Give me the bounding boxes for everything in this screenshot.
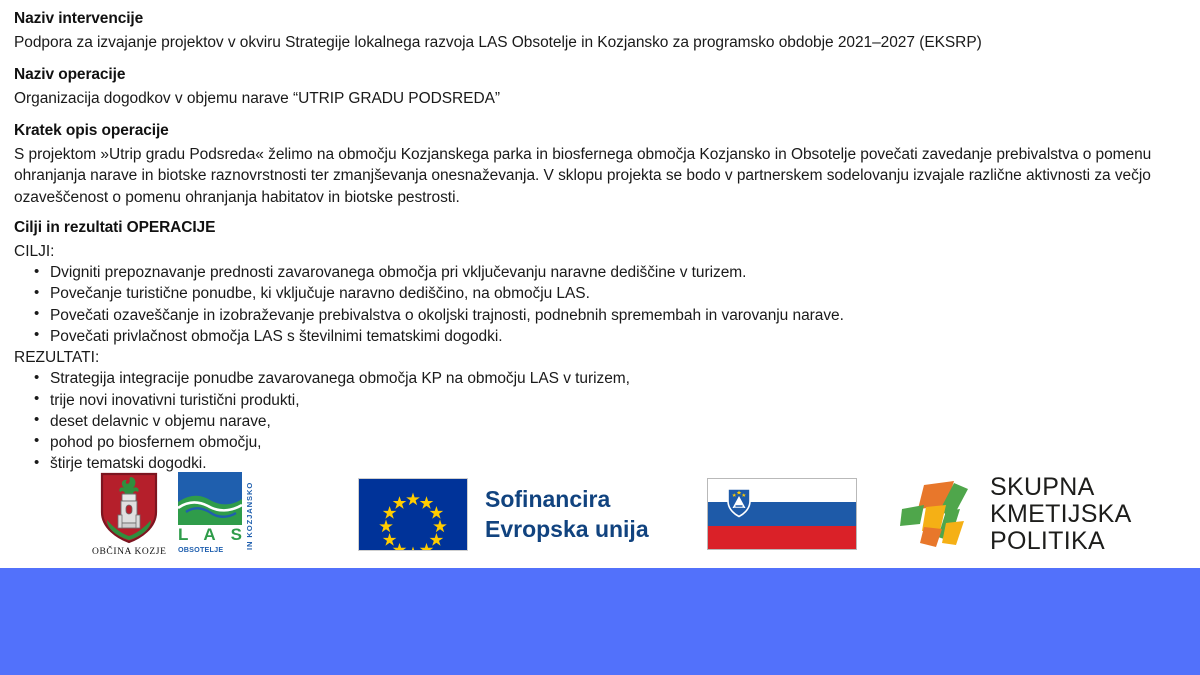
section-heading: Naziv operacije <box>14 65 1186 86</box>
las-logo: L A S OBSOTELJE IN KOZJANSKO <box>178 472 254 553</box>
las-letter-a: A <box>203 526 215 543</box>
skp-text-line-3: POLITIKA <box>990 528 1132 555</box>
list-item: trije novi inovativni turistični produkt… <box>50 390 1186 411</box>
logo-strip: OBČINA KOZJE L A <box>0 468 1200 568</box>
las-subtitle: OBSOTELJE <box>178 546 242 553</box>
list-item: deset delavnic v objemu narave, <box>50 411 1186 432</box>
las-letter-l: L <box>178 526 188 543</box>
section-kratek-opis-operacije: Kratek opis operacije S projektom »Utrip… <box>14 121 1186 208</box>
slovenia-coat-of-arms-icon <box>726 487 752 518</box>
slovenia-flag-icon <box>707 478 857 550</box>
section-body: Podpora za izvajanje projektov v okviru … <box>14 32 1186 53</box>
list-item: Povečanje turistične ponudbe, ki vključu… <box>50 283 1186 304</box>
las-letter-s: S <box>231 526 242 543</box>
section-heading: Cilji in rezultati OPERACIJE <box>14 218 1186 239</box>
obcina-kozje-logo: OBČINA KOZJE <box>92 472 182 557</box>
results-list: Strategija integracije ponudbe zavarovan… <box>14 368 1186 474</box>
eu-cofinancing-logo: Sofinancira Evropska unija <box>358 478 649 551</box>
list-item: Dvigniti prepoznavanje prednosti zavarov… <box>50 262 1186 283</box>
obcina-kozje-caption: OBČINA KOZJE <box>92 547 167 557</box>
las-letters: L A S <box>178 526 242 543</box>
obcina-kozje-coat-of-arms-icon <box>100 472 158 544</box>
slide-page: Naziv intervencije Podpora za izvajanje … <box>0 0 1200 675</box>
skp-text: SKUPNA KMETIJSKA POLITIKA <box>990 474 1132 555</box>
section-body: S projektom »Utrip gradu Podsreda« želim… <box>14 144 1186 208</box>
list-item: Povečati privlačnost območja LAS s števi… <box>50 326 1186 347</box>
goals-label: CILJI: <box>14 241 1186 262</box>
european-union-flag-icon <box>358 478 468 551</box>
section-body: Organizacija dogodkov v objemu narave “U… <box>14 88 1186 109</box>
list-item: pohod po biosfernem območju, <box>50 432 1186 453</box>
flag-band-red <box>708 526 856 549</box>
goals-list: Dvigniti prepoznavanje prednosti zavarov… <box>14 262 1186 347</box>
document-content: Naziv intervencije Podpora za izvajanje … <box>0 0 1200 474</box>
slovenia-flag-logo <box>707 478 857 550</box>
section-heading: Kratek opis operacije <box>14 121 1186 142</box>
section-heading: Naziv intervencije <box>14 9 1186 30</box>
skp-logo: SKUPNA KMETIJSKA POLITIKA <box>898 474 1132 555</box>
skp-fields-icon <box>898 479 976 551</box>
list-item: Povečati ozaveščanje in izobraževanje pr… <box>50 305 1186 326</box>
section-naziv-operacije: Naziv operacije Organizacija dogodkov v … <box>14 65 1186 109</box>
las-vertical-text: IN KOZJANSKO <box>245 472 254 550</box>
list-item: Strategija integracije ponudbe zavarovan… <box>50 368 1186 389</box>
section-naziv-intervencije: Naziv intervencije Podpora za izvajanje … <box>14 9 1186 53</box>
eu-text-line-2: Evropska unija <box>485 515 649 544</box>
eu-text-line-1: Sofinancira <box>485 485 649 514</box>
skp-text-line-1: SKUPNA <box>990 474 1132 501</box>
results-label: REZULTATI: <box>14 347 1186 368</box>
bottom-blue-band <box>0 568 1200 675</box>
las-landscape-icon <box>178 472 242 525</box>
section-cilji-in-rezultati: Cilji in rezultati OPERACIJE CILJI: Dvig… <box>14 218 1186 475</box>
eu-cofinancing-text: Sofinancira Evropska unija <box>485 485 649 544</box>
skp-text-line-2: KMETIJSKA <box>990 501 1132 528</box>
